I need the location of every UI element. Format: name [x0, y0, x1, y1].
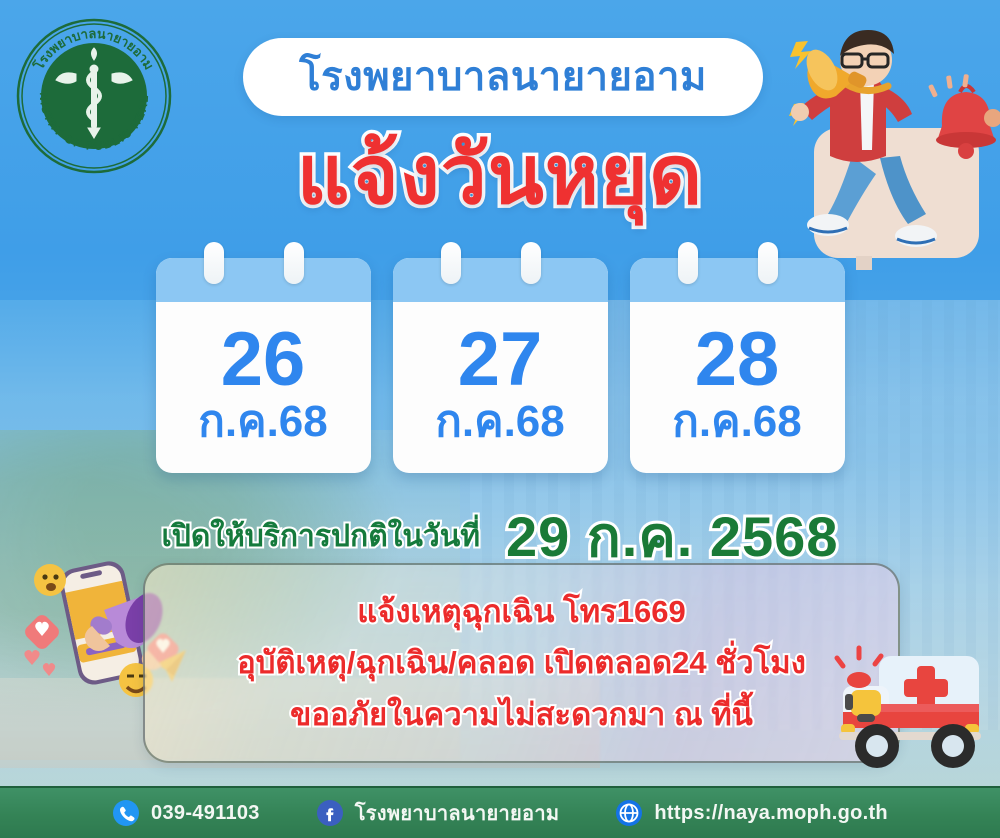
info-line: แจ้งเหตุฉุกเฉิน โทร1669	[357, 594, 686, 630]
calendar-card: 28 ก.ค.68	[630, 258, 845, 473]
calendar-ring-icon	[758, 242, 778, 284]
calendar-ring-icon	[441, 242, 461, 284]
calendar-ring-icon	[521, 242, 541, 284]
reopen-label: เปิดให้บริการปกติในวันที่	[162, 513, 480, 560]
calendar-header-bar	[393, 258, 608, 302]
footer-contact-facebook[interactable]: โรงพยาบาลนายายอาม	[316, 797, 560, 829]
calendar-month-year: ก.ค.68	[435, 398, 564, 446]
footer-contact-website[interactable]: https://naya.moph.go.th	[615, 799, 888, 827]
calendar-day: 28	[695, 324, 780, 396]
calendar-ring-icon	[204, 242, 224, 284]
info-line: อุบัติเหตุ/ฉุกเฉิน/คลอด เปิดตลอด24 ชั่วโ…	[237, 645, 806, 681]
hospital-name-banner: โรงพยาบาลนายายอาม	[243, 38, 763, 116]
footer-contact-phone[interactable]: 039-491103	[112, 799, 260, 827]
calendar-header-bar	[156, 258, 371, 302]
calendar-body: 28 ก.ค.68	[630, 302, 845, 473]
info-line: ขออภัยในความไม่สะดวกมา ณ ที่นี้	[290, 697, 753, 733]
man-with-megaphone-icon	[756, 8, 1000, 270]
globe-icon	[615, 799, 643, 827]
calendar-month-year: ก.ค.68	[198, 398, 327, 446]
calendar-month-year: ก.ค.68	[672, 398, 801, 446]
calendar-header-bar	[630, 258, 845, 302]
calendar-ring-icon	[678, 242, 698, 284]
facebook-icon	[316, 799, 344, 827]
footer-phone-number: 039-491103	[151, 802, 260, 825]
poster-canvas: โรงพยาบาลนายายอาม MINISTRY OF PUBLIC HEA…	[0, 0, 1000, 838]
contact-footer: 039-491103 โรงพยาบาลนายายอาม https:/	[0, 786, 1000, 838]
holiday-calendar-list: 26 ก.ค.68 27 ก.ค.68 28 ก.ค.68	[0, 258, 1000, 473]
calendar-card: 27 ก.ค.68	[393, 258, 608, 473]
calendar-body: 27 ก.ค.68	[393, 302, 608, 473]
calendar-body: 26 ก.ค.68	[156, 302, 371, 473]
calendar-ring-icon	[284, 242, 304, 284]
footer-website-url: https://naya.moph.go.th	[654, 802, 888, 825]
hospital-name-text: โรงพยาบาลนายายอาม	[299, 57, 707, 97]
ambulance-icon	[821, 628, 996, 788]
footer-facebook-name: โรงพยาบาลนายายอาม	[355, 797, 560, 829]
calendar-day: 27	[458, 324, 543, 396]
emergency-info-panel: แจ้งเหตุฉุกเฉิน โทร1669 อุบัติเหตุ/ฉุกเฉ…	[143, 563, 900, 763]
calendar-day: 26	[221, 324, 306, 396]
calendar-card: 26 ก.ค.68	[156, 258, 371, 473]
phone-icon	[112, 799, 140, 827]
